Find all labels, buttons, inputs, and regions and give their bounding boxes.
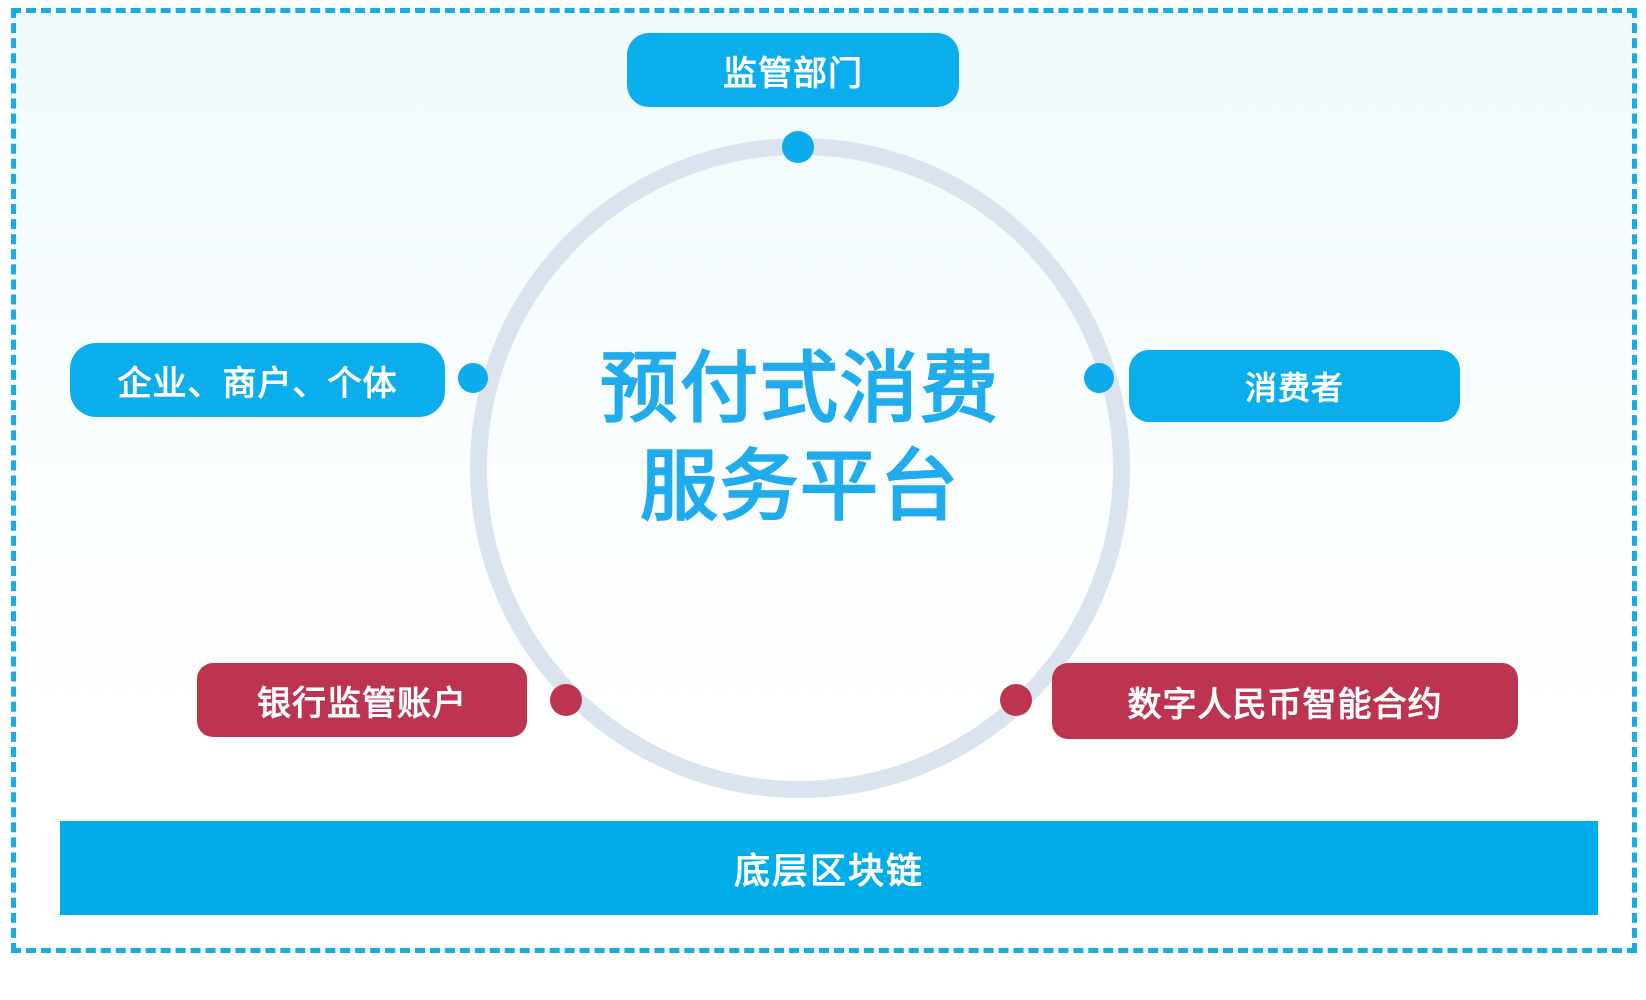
node-badge-regulator[interactable]: 监管部门 (627, 33, 959, 107)
connector-dot-bottom-right (1000, 684, 1032, 716)
connector-dot-left (458, 363, 488, 393)
center-platform-label: 预付式消费 服务平台 (560, 340, 1040, 535)
node-badge-consumer[interactable]: 消费者 (1129, 350, 1460, 422)
node-badge-business[interactable]: 企业、商户、个体 (70, 343, 445, 417)
connector-dot-right (1084, 363, 1114, 393)
foundation-label: 底层区块链 (734, 842, 924, 894)
node-badge-smart-contract[interactable]: 数字人民币智能合约 (1052, 663, 1518, 739)
node-label-bank-account: 银行监管账户 (257, 676, 467, 725)
node-label-business: 企业、商户、个体 (118, 356, 398, 405)
connector-dot-top (782, 131, 814, 163)
node-label-consumer: 消费者 (1245, 363, 1344, 409)
connector-dot-bottom-left (550, 684, 582, 716)
node-badge-bank-account[interactable]: 银行监管账户 (197, 663, 527, 737)
node-label-smart-contract: 数字人民币智能合约 (1128, 677, 1443, 726)
diagram-canvas: 预付式消费 服务平台 监管部门 企业、商户、个体 消费者 银行监管账户 数字人民… (0, 0, 1646, 1000)
node-label-regulator: 监管部门 (723, 46, 863, 95)
foundation-blockchain-bar[interactable]: 底层区块链 (60, 821, 1598, 915)
